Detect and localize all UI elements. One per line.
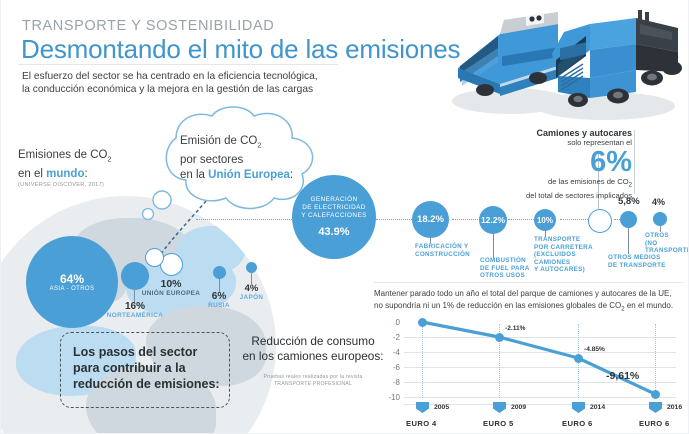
chart-title-line-1: Reducción de consumo	[251, 334, 374, 348]
callout-block: Camiones y autocares solo representan el…	[452, 128, 632, 201]
sector-otros-value: 4%	[652, 197, 665, 207]
note-line-2b: en el mundo.	[625, 301, 673, 310]
sector-connector-3	[508, 219, 534, 220]
sector-stem-otros-medios	[628, 228, 629, 254]
cloud-line-1: Emisión de CO	[180, 135, 257, 147]
world-bubble-asia-value: 64%	[60, 272, 84, 286]
cloud-subscript: 2	[257, 142, 261, 149]
cloud-line-3-prefix: en la	[180, 169, 208, 181]
callout-line-3-subscript: 2	[629, 183, 632, 189]
frame-left	[0, 0, 1, 434]
chart-label-euro6-2014: -4.85%	[584, 346, 605, 353]
world-title-subscript: 2	[107, 156, 111, 163]
cloud-line-2: por sectores	[180, 154, 243, 166]
world-name-norteamerica: NORTEAMÉRICA	[100, 312, 170, 319]
quote-text: Los pasos del sector para contribuir a l…	[73, 344, 223, 392]
world-name-japon: JAPÓN	[229, 294, 274, 301]
sector-fabricacion-value: 18.2%	[417, 214, 444, 225]
quote-box: Los pasos del sector para contribuir a l…	[60, 332, 230, 408]
chart-marker-euro4	[416, 402, 429, 413]
chart-year-euro6-2016: 2016	[667, 404, 682, 411]
sector-generacion-line-1: GENERACIÓN	[311, 196, 358, 204]
sector-combustion-value: 12.2%	[481, 215, 505, 225]
world-name-rusia: RUSIA	[194, 302, 244, 309]
sector-transporte-line-1: TRANSPORTE	[534, 236, 580, 243]
world-bubble-asia-label: ASIA - OTROS	[50, 286, 95, 292]
chart-marker-euro6-2016	[649, 402, 662, 413]
callout-big-value: 6%	[452, 147, 632, 177]
sector-connector-2	[452, 219, 480, 220]
note-line-2a: no supondría ni un 1% de reducción en la…	[374, 301, 621, 310]
sector-label-transporte-carretera: TRANSPORTE POR CARRETERA (EXCLUIDOS CAMI…	[534, 236, 602, 274]
note-line-1: Mantener parado todo un año el total del…	[374, 289, 672, 298]
world-value-norteamerica: 16%	[100, 301, 170, 312]
chart-source-line-1: Pruebas reales realizadas por la revista	[263, 374, 362, 380]
chart-year-euro5: 2009	[511, 404, 526, 411]
sector-combustion-line-1: COMBUSTIÓN	[480, 257, 526, 264]
world-title-line-2-prefix: en el	[18, 168, 46, 180]
sector-combustion-line-3: OTROS USOS	[480, 272, 525, 279]
sector-label-otros: OTROS (NO TRANSPORTE)	[645, 232, 689, 255]
subheadline-line-1: El esfuerzo del sector se ha centrado en…	[22, 71, 318, 82]
chart-category-euro4: EURO 4	[406, 419, 437, 428]
sector-transporte-carretera-value: 10%	[537, 216, 553, 225]
sector-label-fabricacion: FABRICACIÓN Y CONSTRUCCIÓN	[415, 243, 485, 258]
cloud-text: Emisión de CO2 por sectores en la Unión …	[180, 134, 293, 183]
page-title: Desmontando el mito de las emisiones	[21, 34, 460, 65]
world-source: (UNIVERSE DISCOVER, 2017)	[18, 182, 104, 188]
chart-category-euro5: EURO 5	[483, 419, 514, 428]
chart-point-euro6-2016	[651, 390, 660, 399]
cloud-line-3-highlight: Unión Europea	[208, 169, 290, 181]
kicker-text: TRANSPORTE Y SOSTENIBILIDAD	[22, 18, 274, 34]
chart-series-line	[374, 318, 682, 410]
chart-year-euro4: 2005	[434, 404, 449, 411]
chart-label-euro6-2016: -9,61%	[606, 370, 639, 382]
world-value-japon: 4%	[229, 283, 274, 294]
chart-source: Pruebas reales realizadas por la revista…	[238, 374, 388, 387]
sector-generacion-line-3: Y CALEFACCIONES	[301, 212, 367, 220]
chart-title: Reducción de consumo en los camiones eur…	[238, 334, 388, 364]
chart-point-euro5	[495, 333, 504, 342]
bus-and-truck-icon	[440, 6, 689, 128]
chart-category-euro6-2014: EURO 6	[562, 419, 593, 428]
sector-fabricacion-line-2: CONSTRUCCIÓN	[415, 251, 470, 258]
callout-line-3: de las emisiones de CO2	[452, 177, 632, 191]
sector-transporte-line-4: Y AUTOCARES)	[534, 266, 585, 273]
sector-generacion-line-2: DE ELECTRICIDAD	[302, 204, 366, 212]
callout-divider	[634, 130, 635, 194]
chart-source-line-2: TRANSPORTE PROFESIONAL	[274, 381, 352, 387]
vehicles-illustration	[440, 6, 689, 128]
header-divider	[18, 64, 338, 65]
sector-label-combustion: COMBUSTIÓN DE FUEL PARA OTROS USOS	[480, 257, 542, 280]
consumption-line-chart: 0 -2 -4 -6 -8 -10 -2.11% -4.85% -9,61% 2…	[374, 318, 682, 430]
sector-connector-0	[196, 219, 296, 220]
callout-line-1: Camiones y autocares	[452, 128, 632, 138]
sector-otros-line-2: (NO TRANSPORTE)	[645, 240, 689, 255]
callout-line-4: del total de sectores implicados	[452, 191, 632, 201]
world-bubble-rusia	[213, 266, 226, 279]
sector-bubble-generacion: GENERACIÓN DE ELECTRICIDAD Y CALEFACCION…	[292, 175, 376, 259]
callout-line-3-text: de las emisiones de CO	[548, 177, 629, 186]
sector-label-otros-medios: OTROS MEDIOS DE TRANSPORTE	[608, 254, 678, 269]
chart-marker-euro5	[493, 402, 506, 413]
cloud-line-3-suffix: :	[290, 169, 293, 181]
world-label-japon: 4% JAPÓN	[229, 283, 274, 301]
sector-transporte-line-3: (EXCLUIDOS CAMIONES	[534, 251, 576, 266]
sector-bubble-transporte-carretera: 10%	[534, 209, 556, 231]
sector-combustion-line-2: DE FUEL PARA	[480, 265, 530, 272]
world-bubble-japon	[246, 262, 257, 273]
world-value-union-europea: 10%	[135, 278, 207, 290]
chart-point-euro6-2014	[574, 354, 583, 363]
world-title-suffix: :	[84, 168, 87, 180]
sector-bubble-combustion: 12.2%	[479, 206, 507, 234]
subheadline-line-2: la conducción económica y la mejora en l…	[22, 84, 313, 95]
sector-otros-medios-line-2: DE TRANSPORTE	[608, 262, 666, 269]
sector-bubble-otros	[653, 212, 667, 226]
infographic-page: TRANSPORTE Y SOSTENIBILIDAD Desmontando …	[0, 0, 689, 434]
sector-fabricacion-line-1: FABRICACIÓN Y	[415, 243, 468, 250]
note-divider-top	[374, 282, 684, 283]
subheadline: El esfuerzo del sector se ha centrado en…	[22, 70, 318, 96]
chart-category-euro6-2016: EURO 6	[639, 419, 670, 428]
chart-title-line-2: en los camiones europeos:	[243, 349, 384, 363]
sector-node-hollow	[588, 209, 612, 233]
sector-bubble-otros-medios	[620, 211, 637, 228]
chart-marker-euro6-2014	[572, 402, 585, 413]
sector-generacion-value: 43.9%	[318, 226, 349, 238]
sector-bubble-fabricacion: 18.2%	[412, 201, 449, 238]
chart-point-euro4	[418, 318, 427, 327]
world-title-highlight: mundo	[46, 168, 84, 180]
note-text: Mantener parado todo un año el total del…	[374, 288, 684, 316]
sector-otros-medios-line-1: OTROS MEDIOS	[608, 254, 661, 261]
world-title-line-1: Emisiones de CO	[18, 149, 107, 161]
sector-otros-line-1: OTROS	[645, 232, 669, 239]
world-emissions-title: Emisiones de CO2 en el mundo:	[18, 148, 111, 182]
chart-year-euro6-2014: 2014	[590, 404, 605, 411]
sector-stem-combustion	[493, 234, 494, 258]
world-label-norteamerica: 16% NORTEAMÉRICA	[100, 301, 170, 319]
globe-connector-node	[145, 248, 164, 267]
sector-connector-1	[376, 219, 412, 220]
chart-label-euro5: -2.11%	[505, 325, 526, 332]
sector-transporte-line-2: POR CARRETERA	[534, 244, 593, 251]
